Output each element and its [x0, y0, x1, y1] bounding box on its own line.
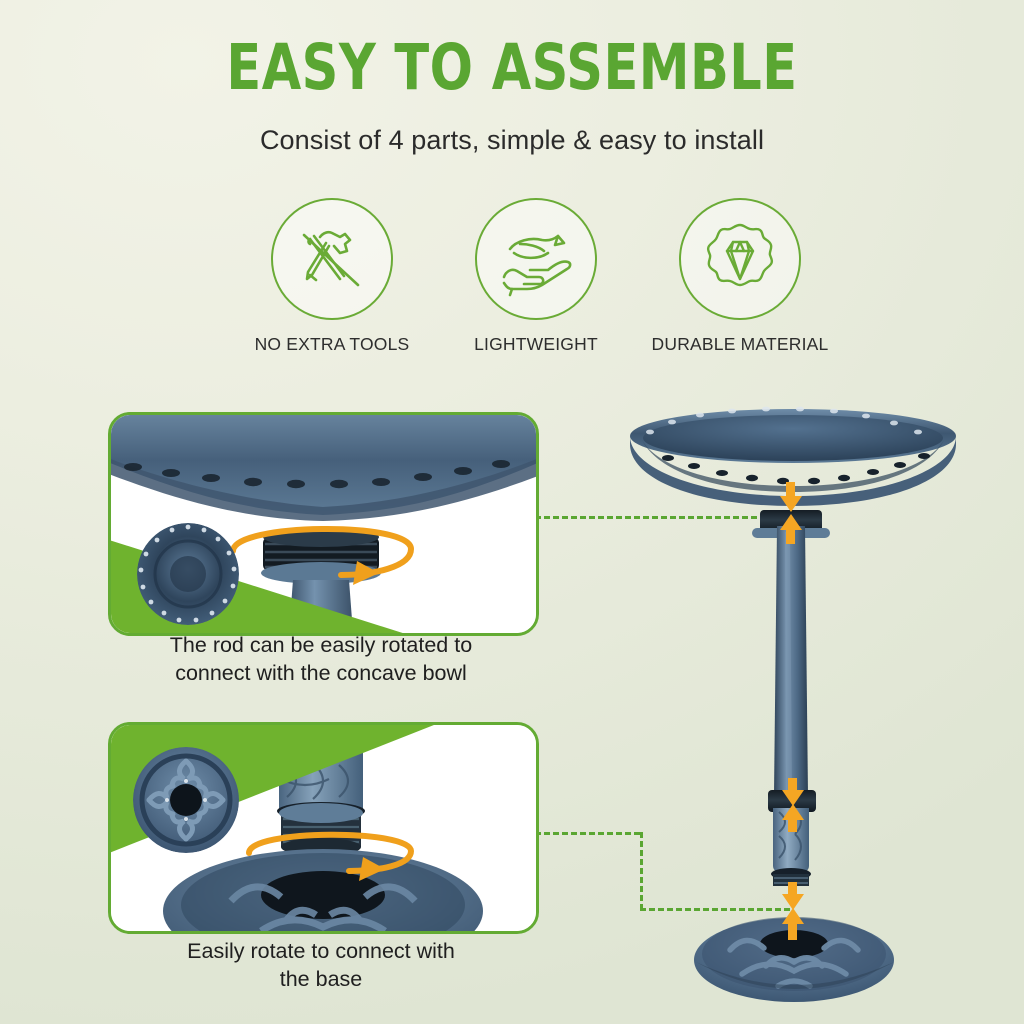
assembly-arrow-up-pole	[780, 514, 802, 530]
inset-base-top-view	[133, 747, 239, 853]
no-tools-icon	[286, 213, 378, 305]
assembly-arrow-down-bowl	[780, 496, 802, 512]
feature-lightweight: LIGHTWEIGHT	[440, 198, 632, 355]
caption-line-2: connect with the concave bowl	[86, 660, 556, 688]
feature-label: NO EXTRA TOOLS	[255, 334, 410, 355]
caption-line-1: Easily rotate to connect with	[86, 938, 556, 966]
assembly-arrow-up-base	[782, 908, 804, 924]
callout-caption-base: Easily rotate to connect with the base	[86, 938, 556, 993]
product-image-bird-bath	[600, 398, 1000, 1008]
caption-line-1: The rod can be easily rotated to	[86, 632, 556, 660]
page-title: EASY TO ASSEMBLE	[51, 36, 973, 99]
assembly-arrow-stem	[788, 922, 797, 940]
base-top-view-image	[133, 747, 239, 853]
feature-no-extra-tools: NO EXTRA TOOLS	[236, 198, 428, 355]
assembly-arrow-up-finial	[782, 804, 804, 820]
product-part-pole	[771, 526, 811, 796]
feature-icon-ring	[271, 198, 393, 320]
inset-bowl-top-view	[137, 523, 239, 625]
caption-line-2: the base	[86, 966, 556, 994]
feature-list: NO EXTRA TOOLS LIGHTWEIGHT	[236, 198, 836, 355]
feature-icon-ring	[475, 198, 597, 320]
feature-label: LIGHTWEIGHT	[474, 334, 598, 355]
bowl-top-view-image	[137, 523, 239, 625]
callout-caption-bowl: The rod can be easily rotated to connect…	[86, 632, 556, 687]
hand-leaf-icon	[490, 213, 582, 305]
infographic-canvas: EASY TO ASSEMBLE Consist of 4 parts, sim…	[0, 0, 1024, 1024]
callout-card-base-connection	[108, 722, 539, 934]
page-subtitle: Consist of 4 parts, simple & easy to ins…	[0, 125, 1024, 156]
feature-durable-material: DURABLE MATERIAL	[644, 198, 836, 355]
diamond-icon	[694, 213, 786, 305]
assembly-arrow-stem	[786, 528, 795, 544]
header: EASY TO ASSEMBLE Consist of 4 parts, sim…	[0, 36, 1024, 156]
callout-card-bowl-connection	[108, 412, 539, 636]
feature-label: DURABLE MATERIAL	[652, 334, 829, 355]
feature-icon-ring	[679, 198, 801, 320]
